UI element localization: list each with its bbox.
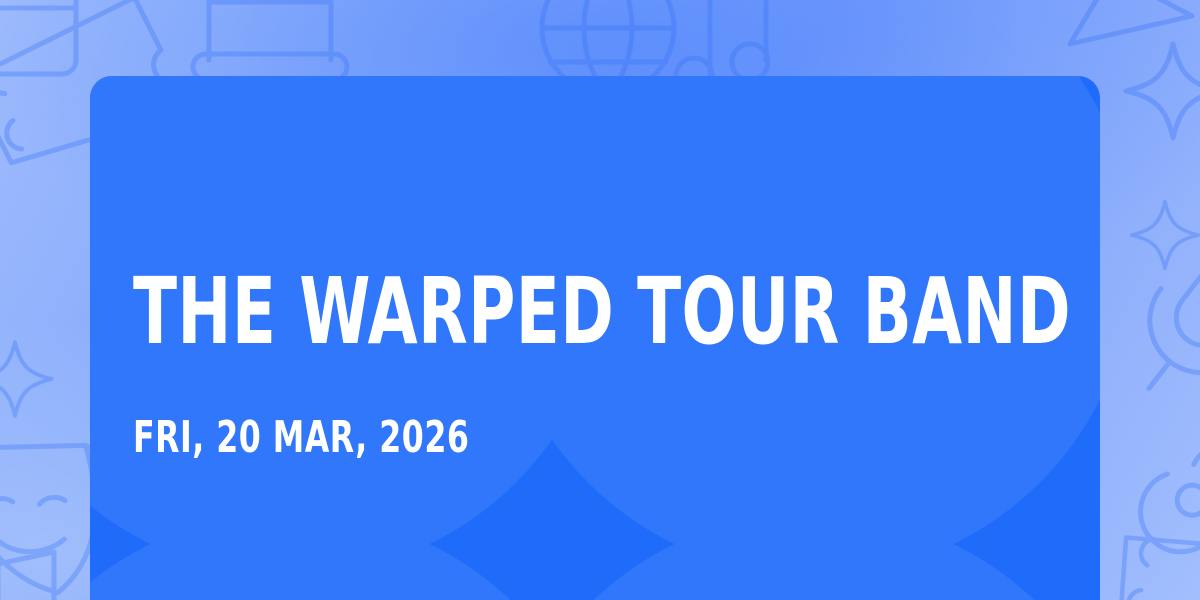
event-card[interactable]: THE WARPED TOUR BAND FRI, 20 MAR, 2026: [90, 76, 1100, 600]
ticket-icon: [1090, 494, 1200, 600]
sparkle-icon: [0, 336, 58, 422]
calendar-icon: [0, 0, 92, 82]
confetti-icon: [1060, 0, 1200, 74]
event-date: FRI, 20 MAR, 2026: [133, 416, 469, 460]
event-banner: THE WARPED TOUR BAND FRI, 20 MAR, 2026: [0, 0, 1200, 600]
event-title: THE WARPED TOUR BAND: [133, 266, 1071, 358]
music-note-icon: [0, 536, 74, 600]
card-content: THE WARPED TOUR BAND FRI, 20 MAR, 2026: [133, 76, 1060, 600]
